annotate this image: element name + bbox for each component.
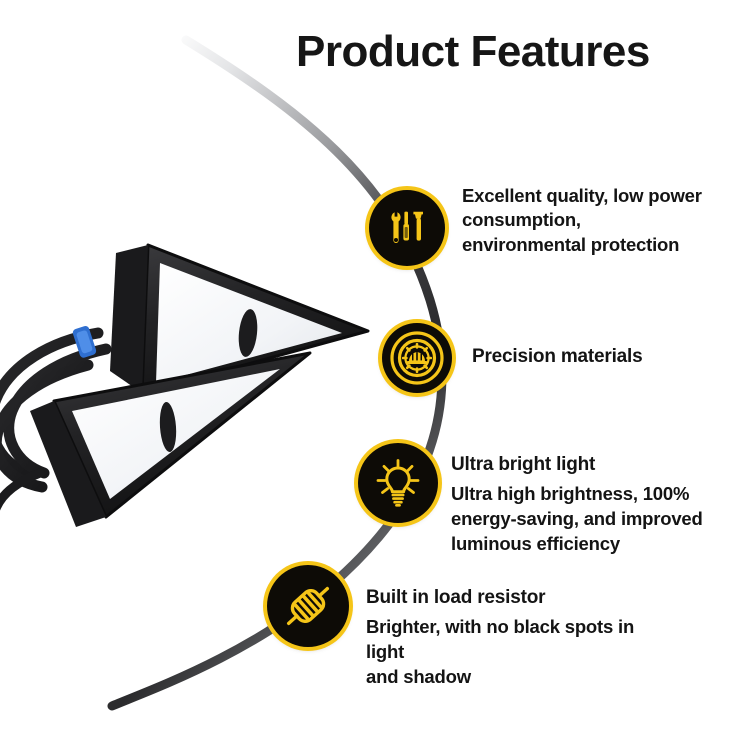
- feature-body-3-line-2: energy-saving, and improved: [451, 507, 733, 532]
- feature-heading-1-line-2: consumption,: [462, 208, 738, 232]
- resistor-icon: [267, 565, 349, 647]
- feature-body-4-line-1: Brighter, with no black spots in light: [366, 615, 666, 665]
- tools-icon: [369, 190, 445, 266]
- product-image: [0, 215, 380, 535]
- feature-heading-1-line-3: environmental protection: [462, 233, 738, 257]
- feature-text-2: Precision materials: [472, 344, 722, 369]
- feature-heading-1-line-1: Excellent quality, low power: [462, 184, 738, 208]
- feature-text-4: Built in load resistor Brighter, with no…: [366, 585, 666, 689]
- feature-heading-4: Built in load resistor: [366, 585, 666, 610]
- feature-body-4-line-2: and shadow: [366, 665, 666, 690]
- page-title: Product Features: [296, 28, 716, 76]
- feature-body-3-line-1: Ultra high brightness, 100%: [451, 482, 733, 507]
- feature-text-3: Ultra bright light Ultra high brightness…: [451, 452, 733, 556]
- product-features-infographic: Product Features Excellent quality, low …: [0, 0, 750, 750]
- hard-hat-gear-icon: [382, 323, 452, 393]
- feature-heading-2: Precision materials: [472, 344, 722, 369]
- feature-text-1: Excellent quality, low power consumption…: [462, 184, 738, 257]
- feature-heading-3: Ultra bright light: [451, 452, 733, 477]
- light-bulb-icon: [358, 443, 438, 523]
- feature-body-3-line-3: luminous efficiency: [451, 532, 733, 557]
